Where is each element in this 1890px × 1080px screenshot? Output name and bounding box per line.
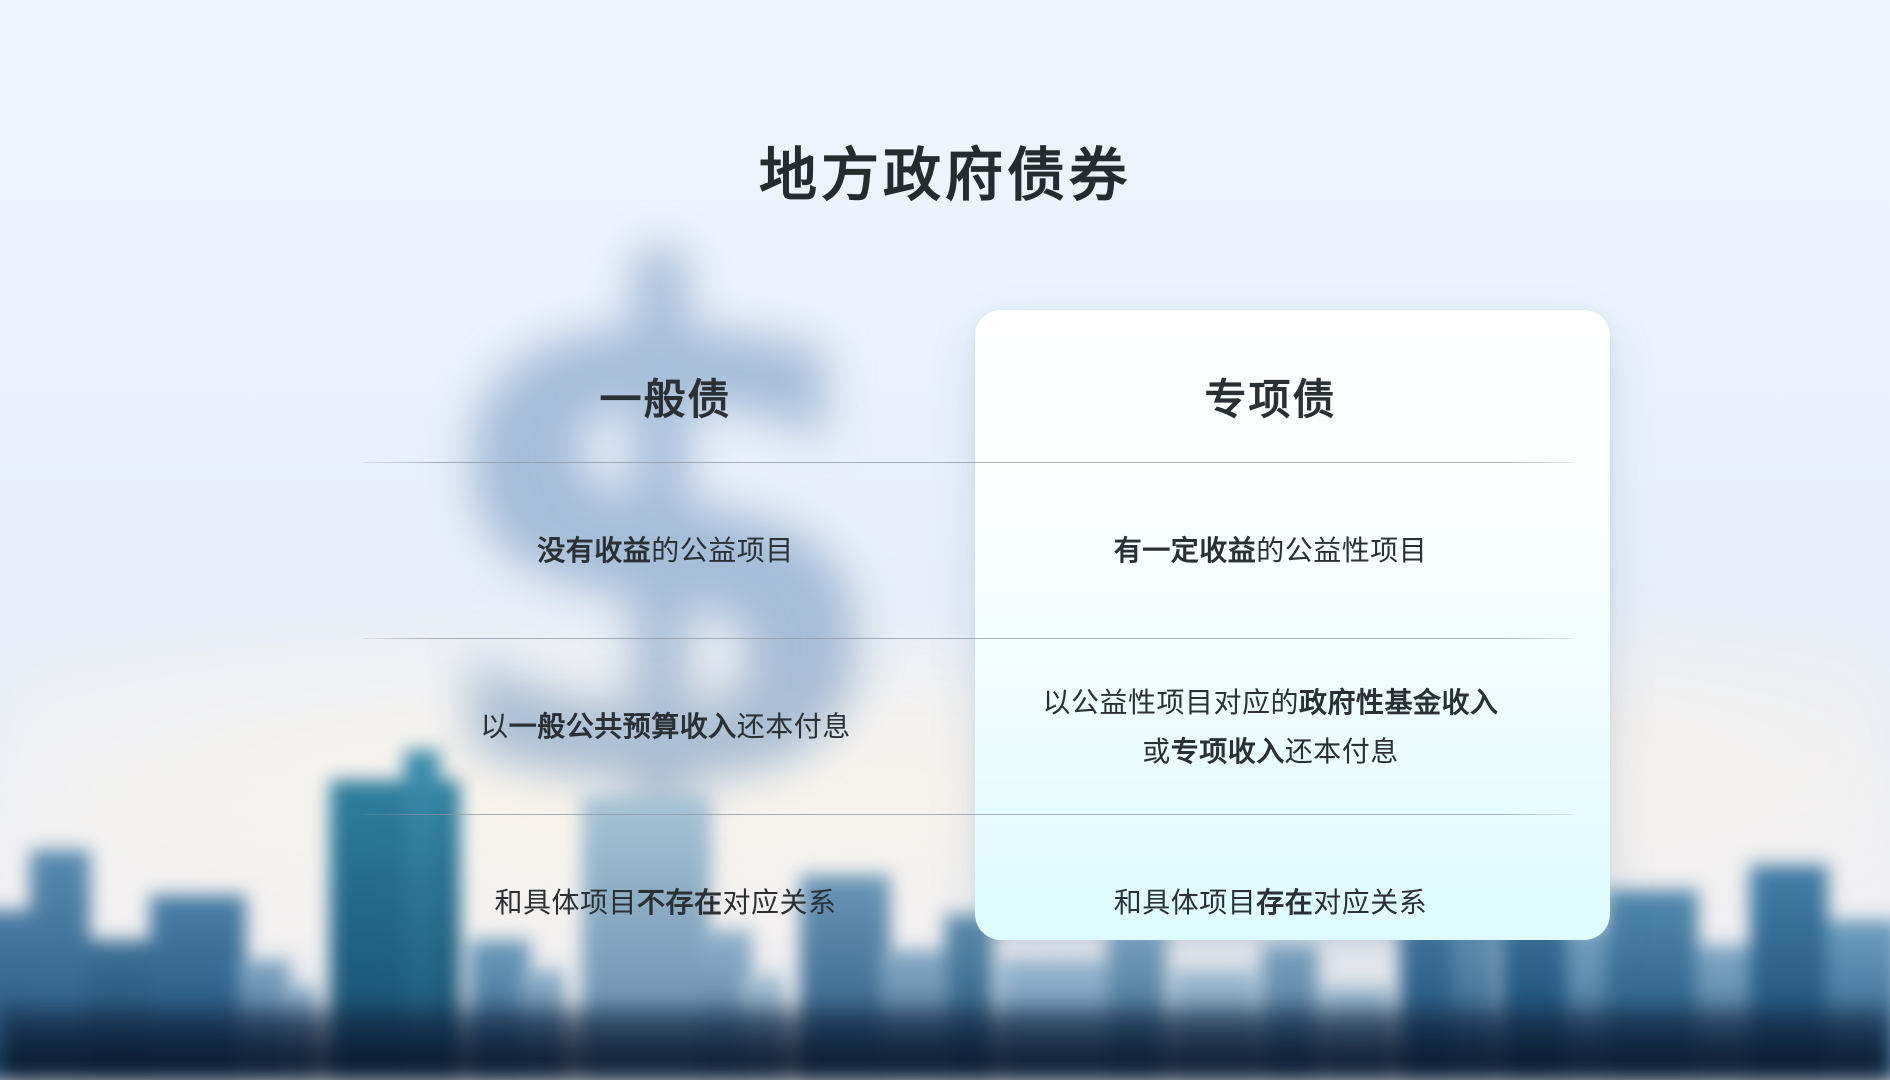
cell-general-repayment-source: 以一般公共预算收入还本付息 xyxy=(363,639,968,814)
column-header-general-bond: 一般债 xyxy=(363,330,968,462)
emphasis-text: 存在 xyxy=(1256,887,1313,918)
cell-text: 和具体项目存在对应关系 xyxy=(1114,878,1428,927)
column-header-special-bond: 专项债 xyxy=(968,330,1573,462)
cell-text: 有一定收益的公益性项目 xyxy=(1114,526,1428,575)
emphasis-text: 一般公共预算收入 xyxy=(509,711,737,742)
table-header-row: 一般债 专项债 xyxy=(363,330,1573,462)
plain-text: 的公益性项目 xyxy=(1256,535,1427,566)
table-row-project-type: 没有收益的公益项目 有一定收益的公益性项目 xyxy=(363,463,1573,638)
plain-text: 和具体项目 xyxy=(494,887,637,918)
cell-text-line-1: 以公益性项目对应的政府性基金收入 xyxy=(1042,687,1498,718)
cell-text: 以一般公共预算收入还本付息 xyxy=(480,702,851,751)
cell-general-project-correspondence: 和具体项目不存在对应关系 xyxy=(363,815,968,990)
emphasis-text: 不存在 xyxy=(637,887,723,918)
emphasis-text: 有一定收益 xyxy=(1114,535,1257,566)
cell-special-project-correspondence: 和具体项目存在对应关系 xyxy=(968,815,1573,990)
emphasis-text: 没有收益 xyxy=(537,535,651,566)
column-header-general-bond-label: 一般债 xyxy=(599,366,731,427)
page-title: 地方政府债券 xyxy=(0,128,1890,212)
plain-text: 还本付息 xyxy=(1285,736,1399,767)
plain-text: 和具体项目 xyxy=(1114,887,1257,918)
cell-general-project-type: 没有收益的公益项目 xyxy=(363,463,968,638)
plain-text: 或 xyxy=(1142,736,1171,767)
cell-text: 没有收益的公益项目 xyxy=(537,526,794,575)
emphasis-text: 政府性基金收入 xyxy=(1299,687,1499,718)
comparison-table: 一般债 专项债 没有收益的公益项目 有一定收益的公益性项目 xyxy=(363,330,1573,990)
column-header-special-bond-label: 专项债 xyxy=(1204,366,1336,427)
table-row-repayment-source: 以一般公共预算收入还本付息 以公益性项目对应的政府性基金收入 或专项收入还本付息 xyxy=(363,639,1573,814)
plain-text: 对应关系 xyxy=(1313,887,1427,918)
cell-text: 以公益性项目对应的政府性基金收入 或专项收入还本付息 xyxy=(1042,678,1498,776)
slide-content: 地方政府债券 一般债 专项债 没有收益的公益项目 有一定收益的公益性项目 xyxy=(0,0,1890,1080)
cell-text-line-2: 或专项收入还本付息 xyxy=(1142,736,1399,767)
slide-canvas: $ xyxy=(0,0,1890,1080)
table-row-project-correspondence: 和具体项目不存在对应关系 和具体项目存在对应关系 xyxy=(363,815,1573,990)
plain-text: 以 xyxy=(480,711,509,742)
plain-text: 的公益项目 xyxy=(651,535,794,566)
emphasis-text: 专项收入 xyxy=(1171,736,1285,767)
cell-special-repayment-source: 以公益性项目对应的政府性基金收入 或专项收入还本付息 xyxy=(968,639,1573,814)
cell-special-project-type: 有一定收益的公益性项目 xyxy=(968,463,1573,638)
plain-text: 对应关系 xyxy=(723,887,837,918)
plain-text: 还本付息 xyxy=(737,711,851,742)
cell-text: 和具体项目不存在对应关系 xyxy=(494,878,836,927)
plain-text: 以公益性项目对应的 xyxy=(1042,687,1299,718)
